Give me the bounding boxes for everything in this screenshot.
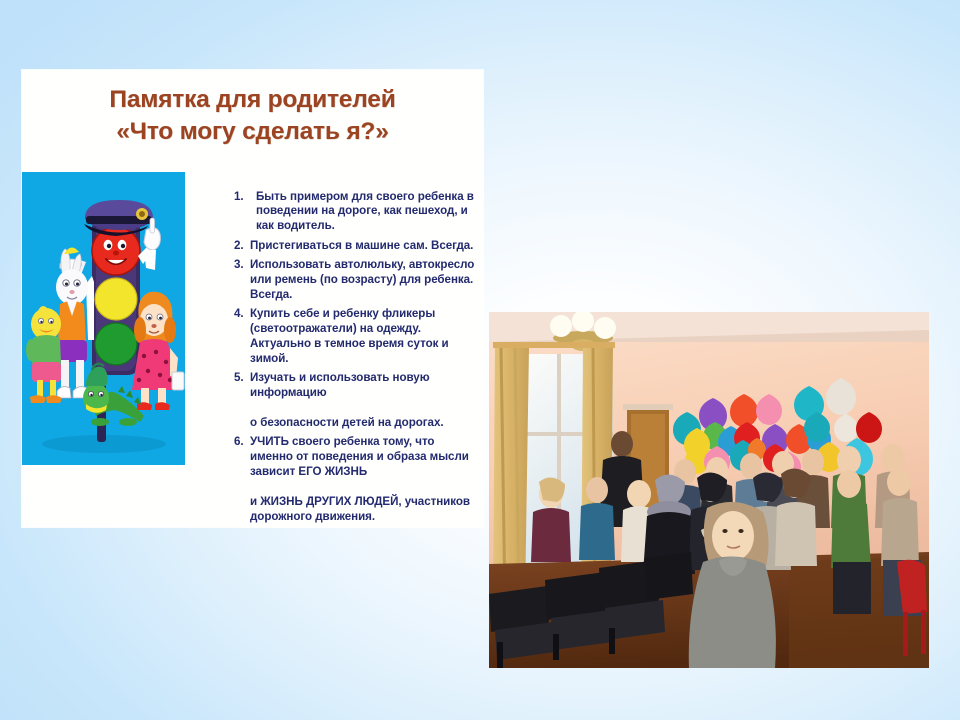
person-body <box>831 500 871 568</box>
duckling-pupil-right <box>50 321 52 323</box>
dress-dot <box>142 354 146 358</box>
memo-title: Памятка для родителей «Что могу сделать … <box>22 84 483 149</box>
person-body <box>775 502 817 566</box>
person-body <box>531 508 571 562</box>
dog-girl-pupil-left <box>148 317 151 320</box>
memo-item-text: Купить себе и ребенку фликеры (светоотра… <box>250 307 520 367</box>
meeting-photograph <box>489 312 929 668</box>
dog-girl-ear-left <box>134 317 146 343</box>
duckling-pupil-left <box>40 321 42 323</box>
person-hair <box>539 477 565 502</box>
foreground-eye-left <box>722 529 727 533</box>
dress-dot <box>154 350 158 354</box>
memo-list: 1. Быть примером для своего ребенка в по… <box>194 190 520 530</box>
person-head <box>586 477 608 503</box>
person-body <box>881 498 919 566</box>
memo-list-item: 4. Купить себе и ребенку фликеры (светоо… <box>234 307 520 367</box>
face-nose <box>113 251 119 256</box>
dress-dot <box>164 360 168 364</box>
memo-item-number: 2. <box>234 239 247 254</box>
memo-item-number: 1. <box>234 190 253 205</box>
chair-leg <box>553 634 559 660</box>
memo-item-text: Пристегиваться в машине сам. Всегда. <box>250 239 520 254</box>
traffic-light-illustration <box>22 172 185 465</box>
traffic-light-illustration-svg <box>22 172 185 465</box>
dog-girl-pupil-right <box>159 317 162 320</box>
person-body <box>579 503 615 560</box>
chandelier-bulb <box>594 317 616 339</box>
presentation-slide: Памятка для родителей «Что могу сделать … <box>0 0 960 720</box>
cap-badge-center <box>139 211 145 217</box>
person-head <box>881 444 905 472</box>
foreground-eye-right <box>738 529 743 533</box>
chandelier-bulb <box>550 315 572 337</box>
dog-girl-nose <box>151 324 156 328</box>
chair-leg <box>609 628 615 654</box>
person-head <box>611 431 633 457</box>
crocodile-pupil-left <box>90 394 92 396</box>
memo-item-text: УЧИТЬ своего ребенка тому, что именно от… <box>250 435 520 524</box>
dress-dot <box>137 378 141 382</box>
chair-leg <box>497 642 503 668</box>
memo-list-item: 1. Быть примером для своего ребенка в по… <box>234 190 520 235</box>
rabbit-nose <box>69 290 74 294</box>
rabbit-pupil-left <box>65 283 68 286</box>
memo-card: Памятка для родителей «Что могу сделать … <box>22 70 483 527</box>
dress-dot <box>158 373 162 377</box>
person-legs <box>833 562 871 614</box>
foreground-face <box>712 511 754 561</box>
memo-list-item: 3. Использовать автолюльку, автокресло и… <box>234 258 520 303</box>
duckling-wing <box>26 339 36 361</box>
red-chair-leg <box>903 612 908 656</box>
memo-item-text: Использовать автолюльку, автокресло или … <box>250 258 520 303</box>
memo-item-number: 6. <box>234 435 247 450</box>
pointing-finger <box>150 218 155 233</box>
person-head <box>802 449 824 475</box>
person-head <box>627 480 651 508</box>
red-chair-leg <box>921 610 926 654</box>
person-head <box>887 468 911 496</box>
dog-girl-bag <box>172 372 184 390</box>
chair-back <box>645 552 693 600</box>
rabbit-shorts <box>57 340 87 362</box>
memo-item-text: Изучать и использовать новую информацию … <box>250 371 520 431</box>
curtain-rod <box>493 342 615 348</box>
memo-item-number: 3. <box>234 258 247 273</box>
memo-list-item: 5. Изучать и использовать новую информац… <box>234 371 520 431</box>
person-head <box>837 446 861 474</box>
rabbit-pupil-right <box>76 283 79 286</box>
face-pupil-left <box>107 244 111 248</box>
meeting-photograph-svg <box>489 312 929 668</box>
duckling-shorts <box>32 362 61 382</box>
memo-item-text: Быть примером для своего ребенка в повед… <box>256 190 520 235</box>
person-head <box>837 470 861 498</box>
dress-dot <box>146 369 150 373</box>
crocodile-foot-front <box>91 418 109 426</box>
door-frame-top <box>623 404 673 410</box>
duckling-shirt <box>32 335 61 364</box>
memo-list-item: 2. Пристегиваться в машине сам. Всегда. <box>234 239 520 254</box>
crocodile-pupil-right <box>100 394 102 396</box>
memo-item-number: 5. <box>234 371 247 386</box>
memo-list-item: 6. УЧИТЬ своего ребенка тому, что именно… <box>234 435 520 524</box>
memo-item-number: 4. <box>234 307 247 322</box>
crocodile-foot-back <box>119 418 137 426</box>
rabbit-shoe-left <box>57 387 71 398</box>
dog-girl-ear-right <box>164 317 176 343</box>
face-pupil-right <box>121 244 125 248</box>
